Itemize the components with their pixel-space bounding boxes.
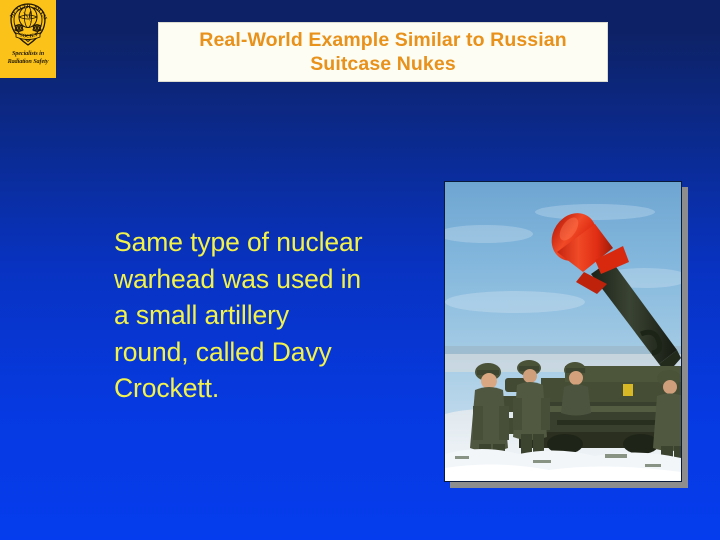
photo-davy-crockett bbox=[444, 181, 682, 482]
seal-icon: HEALTH PHYSICS SOCIETY bbox=[4, 2, 52, 48]
organization-logo: HEALTH PHYSICS SOCIETY Specialists in Ra… bbox=[0, 0, 56, 78]
body-paragraph: Same type of nuclear warhead was used in… bbox=[114, 224, 414, 407]
slide-canvas: HEALTH PHYSICS SOCIETY Specialists in Ra… bbox=[0, 0, 720, 540]
logo-caption: Specialists in Radiation Safety bbox=[0, 50, 56, 66]
page-title: Real-World Example Similar to Russian Su… bbox=[189, 28, 576, 76]
title-box: Real-World Example Similar to Russian Su… bbox=[158, 22, 608, 82]
